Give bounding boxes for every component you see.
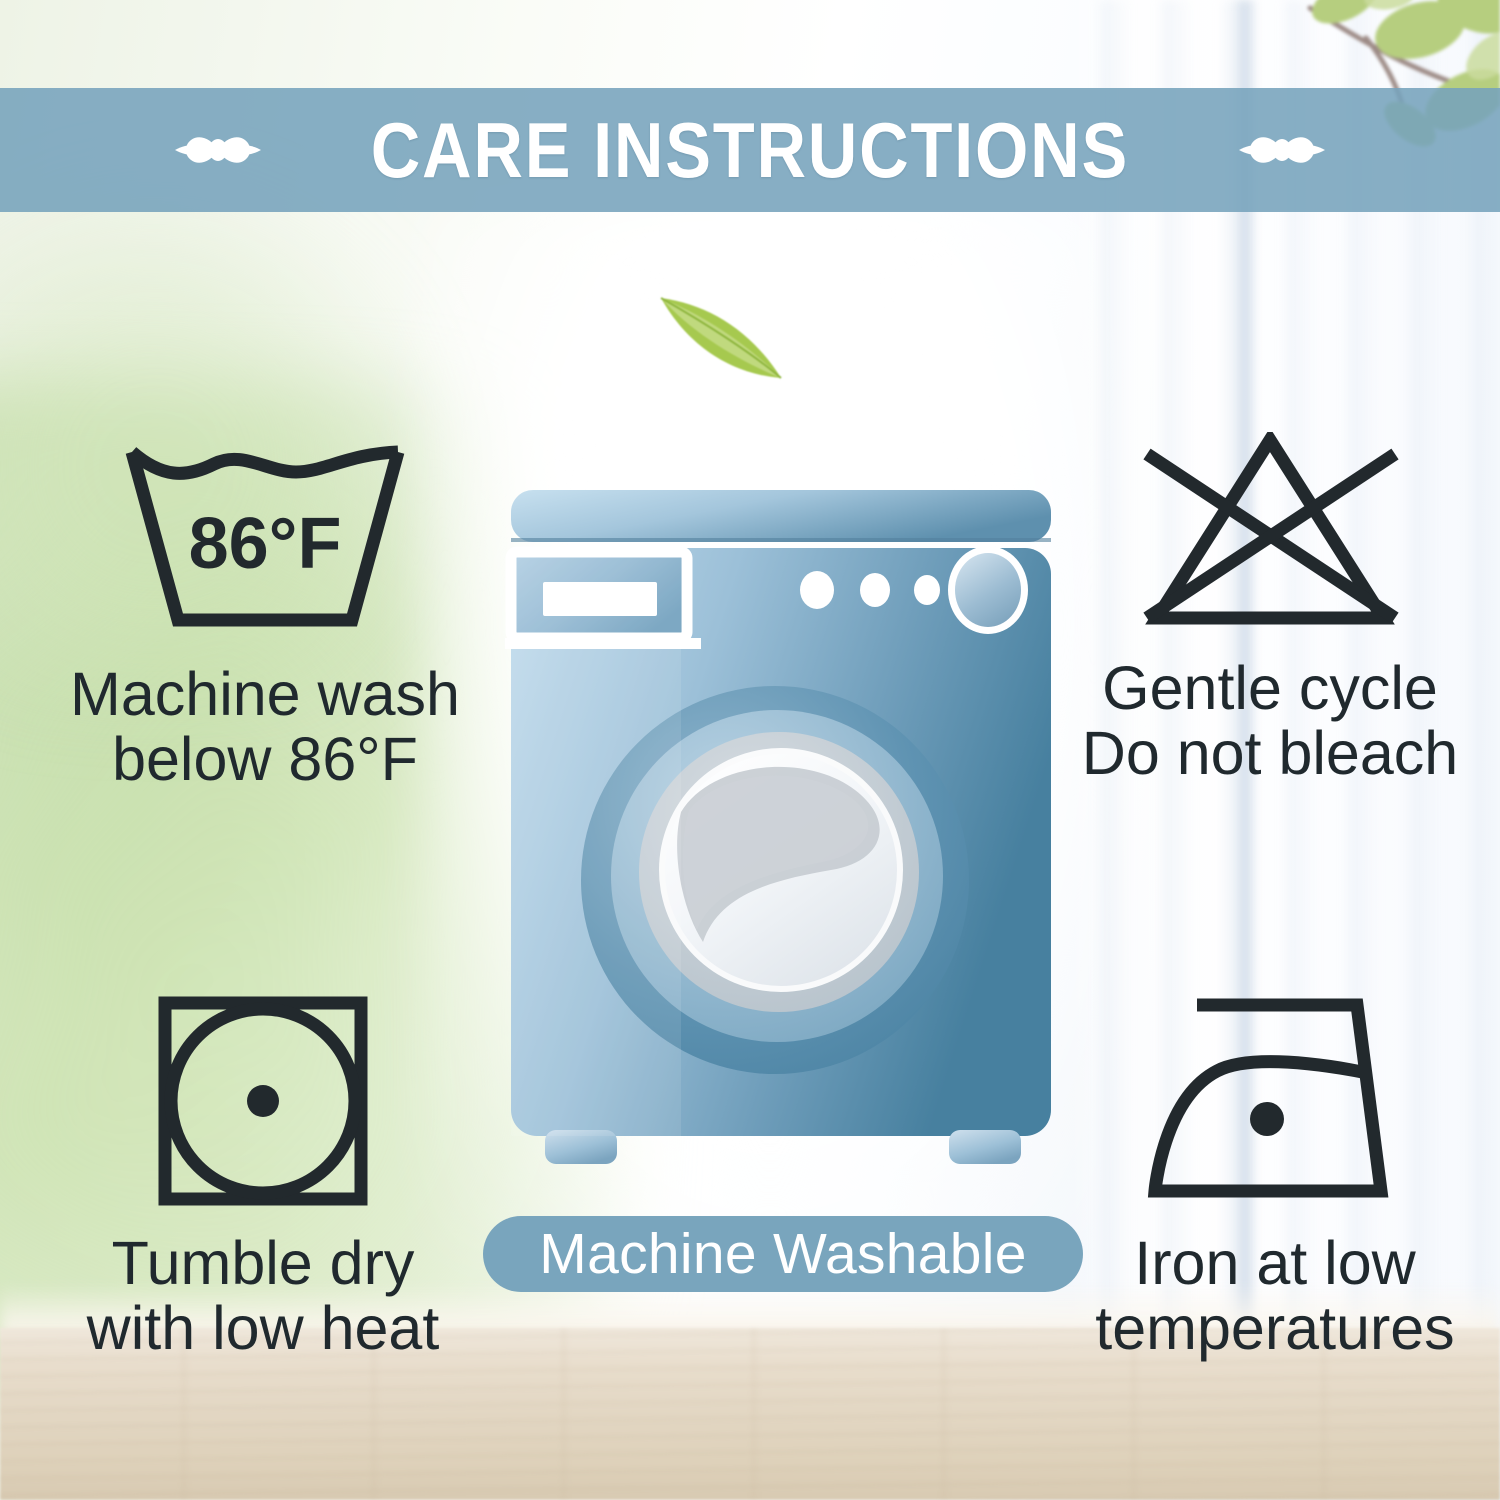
badge-label: Machine Washable <box>539 1226 1026 1283</box>
care-item-label: Tumble dry with low heat <box>87 1231 440 1362</box>
care-item-label: Gentle cycle Do not bleach <box>1082 656 1458 787</box>
label-line-1: Tumble dry <box>87 1231 440 1296</box>
label-line-1: Machine wash <box>70 662 460 727</box>
machine-washable-badge: Machine Washable <box>483 1216 1083 1292</box>
page-title: CARE INSTRUCTIONS <box>371 111 1129 189</box>
care-item-iron-low: Iron at low temperatures <box>1040 995 1500 1362</box>
indicator-light-2 <box>860 573 890 607</box>
indicator-light-3 <box>914 575 940 605</box>
washer-lid <box>511 490 1051 542</box>
label-line-2: Do not bleach <box>1082 721 1458 786</box>
floating-leaf-icon <box>655 282 790 387</box>
care-instructions-graphic: CARE INSTRUCTIONS <box>0 0 1500 1500</box>
fleur-de-lis-icon-right <box>1223 108 1341 192</box>
iron-low-heat-icon <box>1141 995 1409 1207</box>
tumble-dry-low-icon <box>157 995 369 1207</box>
wash-tub-icon: 86°F <box>120 438 410 638</box>
label-line-1: Iron at low <box>1095 1231 1454 1296</box>
label-line-2: below 86°F <box>70 727 460 792</box>
indicator-light-1 <box>800 571 834 609</box>
fleur-de-lis-icon-left <box>159 108 277 192</box>
label-line-2: with low heat <box>87 1296 440 1361</box>
crossed-triangle-icon <box>1125 432 1415 632</box>
care-item-machine-wash: 86°F Machine wash below 86°F <box>30 438 500 793</box>
care-item-label: Iron at low temperatures <box>1095 1231 1454 1362</box>
heat-level-dot <box>247 1085 279 1117</box>
label-line-2: temperatures <box>1095 1296 1454 1361</box>
care-item-label: Machine wash below 86°F <box>70 662 460 793</box>
label-line-1: Gentle cycle <box>1082 656 1458 721</box>
care-item-tumble-dry: Tumble dry with low heat <box>28 995 498 1362</box>
header-banner: CARE INSTRUCTIONS <box>0 88 1500 212</box>
care-item-do-not-bleach: Gentle cycle Do not bleach <box>1035 432 1500 787</box>
washer-foot-right <box>949 1130 1021 1164</box>
wash-temperature-value: 86°F <box>189 504 342 584</box>
heat-level-dot <box>1250 1102 1284 1136</box>
control-knob <box>948 546 1028 634</box>
washing-machine-illustration <box>505 490 1057 1180</box>
